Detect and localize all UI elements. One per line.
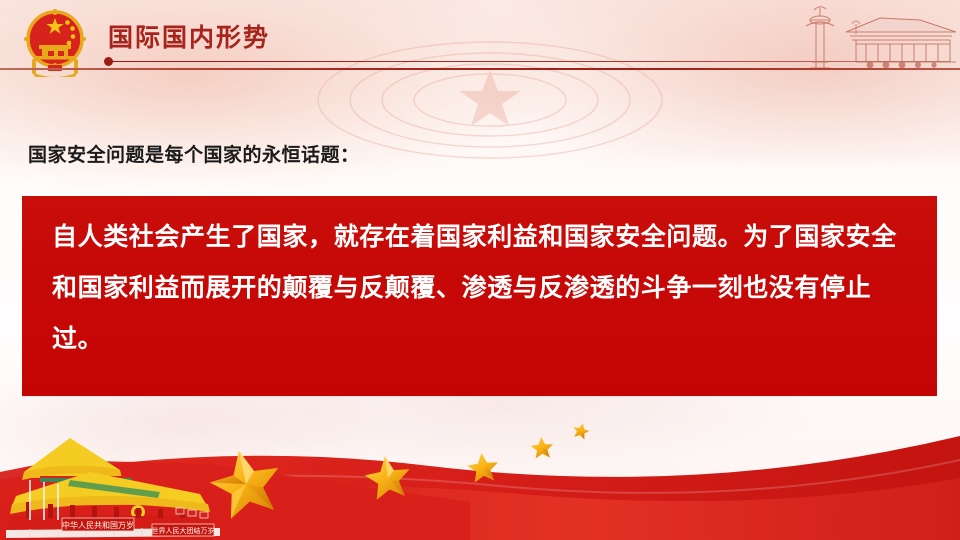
tiananmen-huabiao-lineart-icon: [760, 0, 960, 70]
header-divider: [0, 68, 960, 70]
lead-heading: 国家安全问题是每个国家的永恒话题：: [28, 146, 360, 165]
slide-header: 国际国内形势: [0, 0, 960, 70]
slide-root: 国际国内形势: [0, 0, 960, 540]
quote-box: 自人类社会产生了国家，就存在着国家利益和国家安全问题。为了国家安全和国家利益而展…: [22, 196, 937, 396]
china-national-emblem-icon: [18, 7, 92, 77]
page-title: 国际国内形势: [108, 26, 270, 51]
quote-text: 自人类社会产生了国家，就存在着国家利益和国家安全问题。为了国家安全和国家利益而展…: [52, 212, 912, 365]
